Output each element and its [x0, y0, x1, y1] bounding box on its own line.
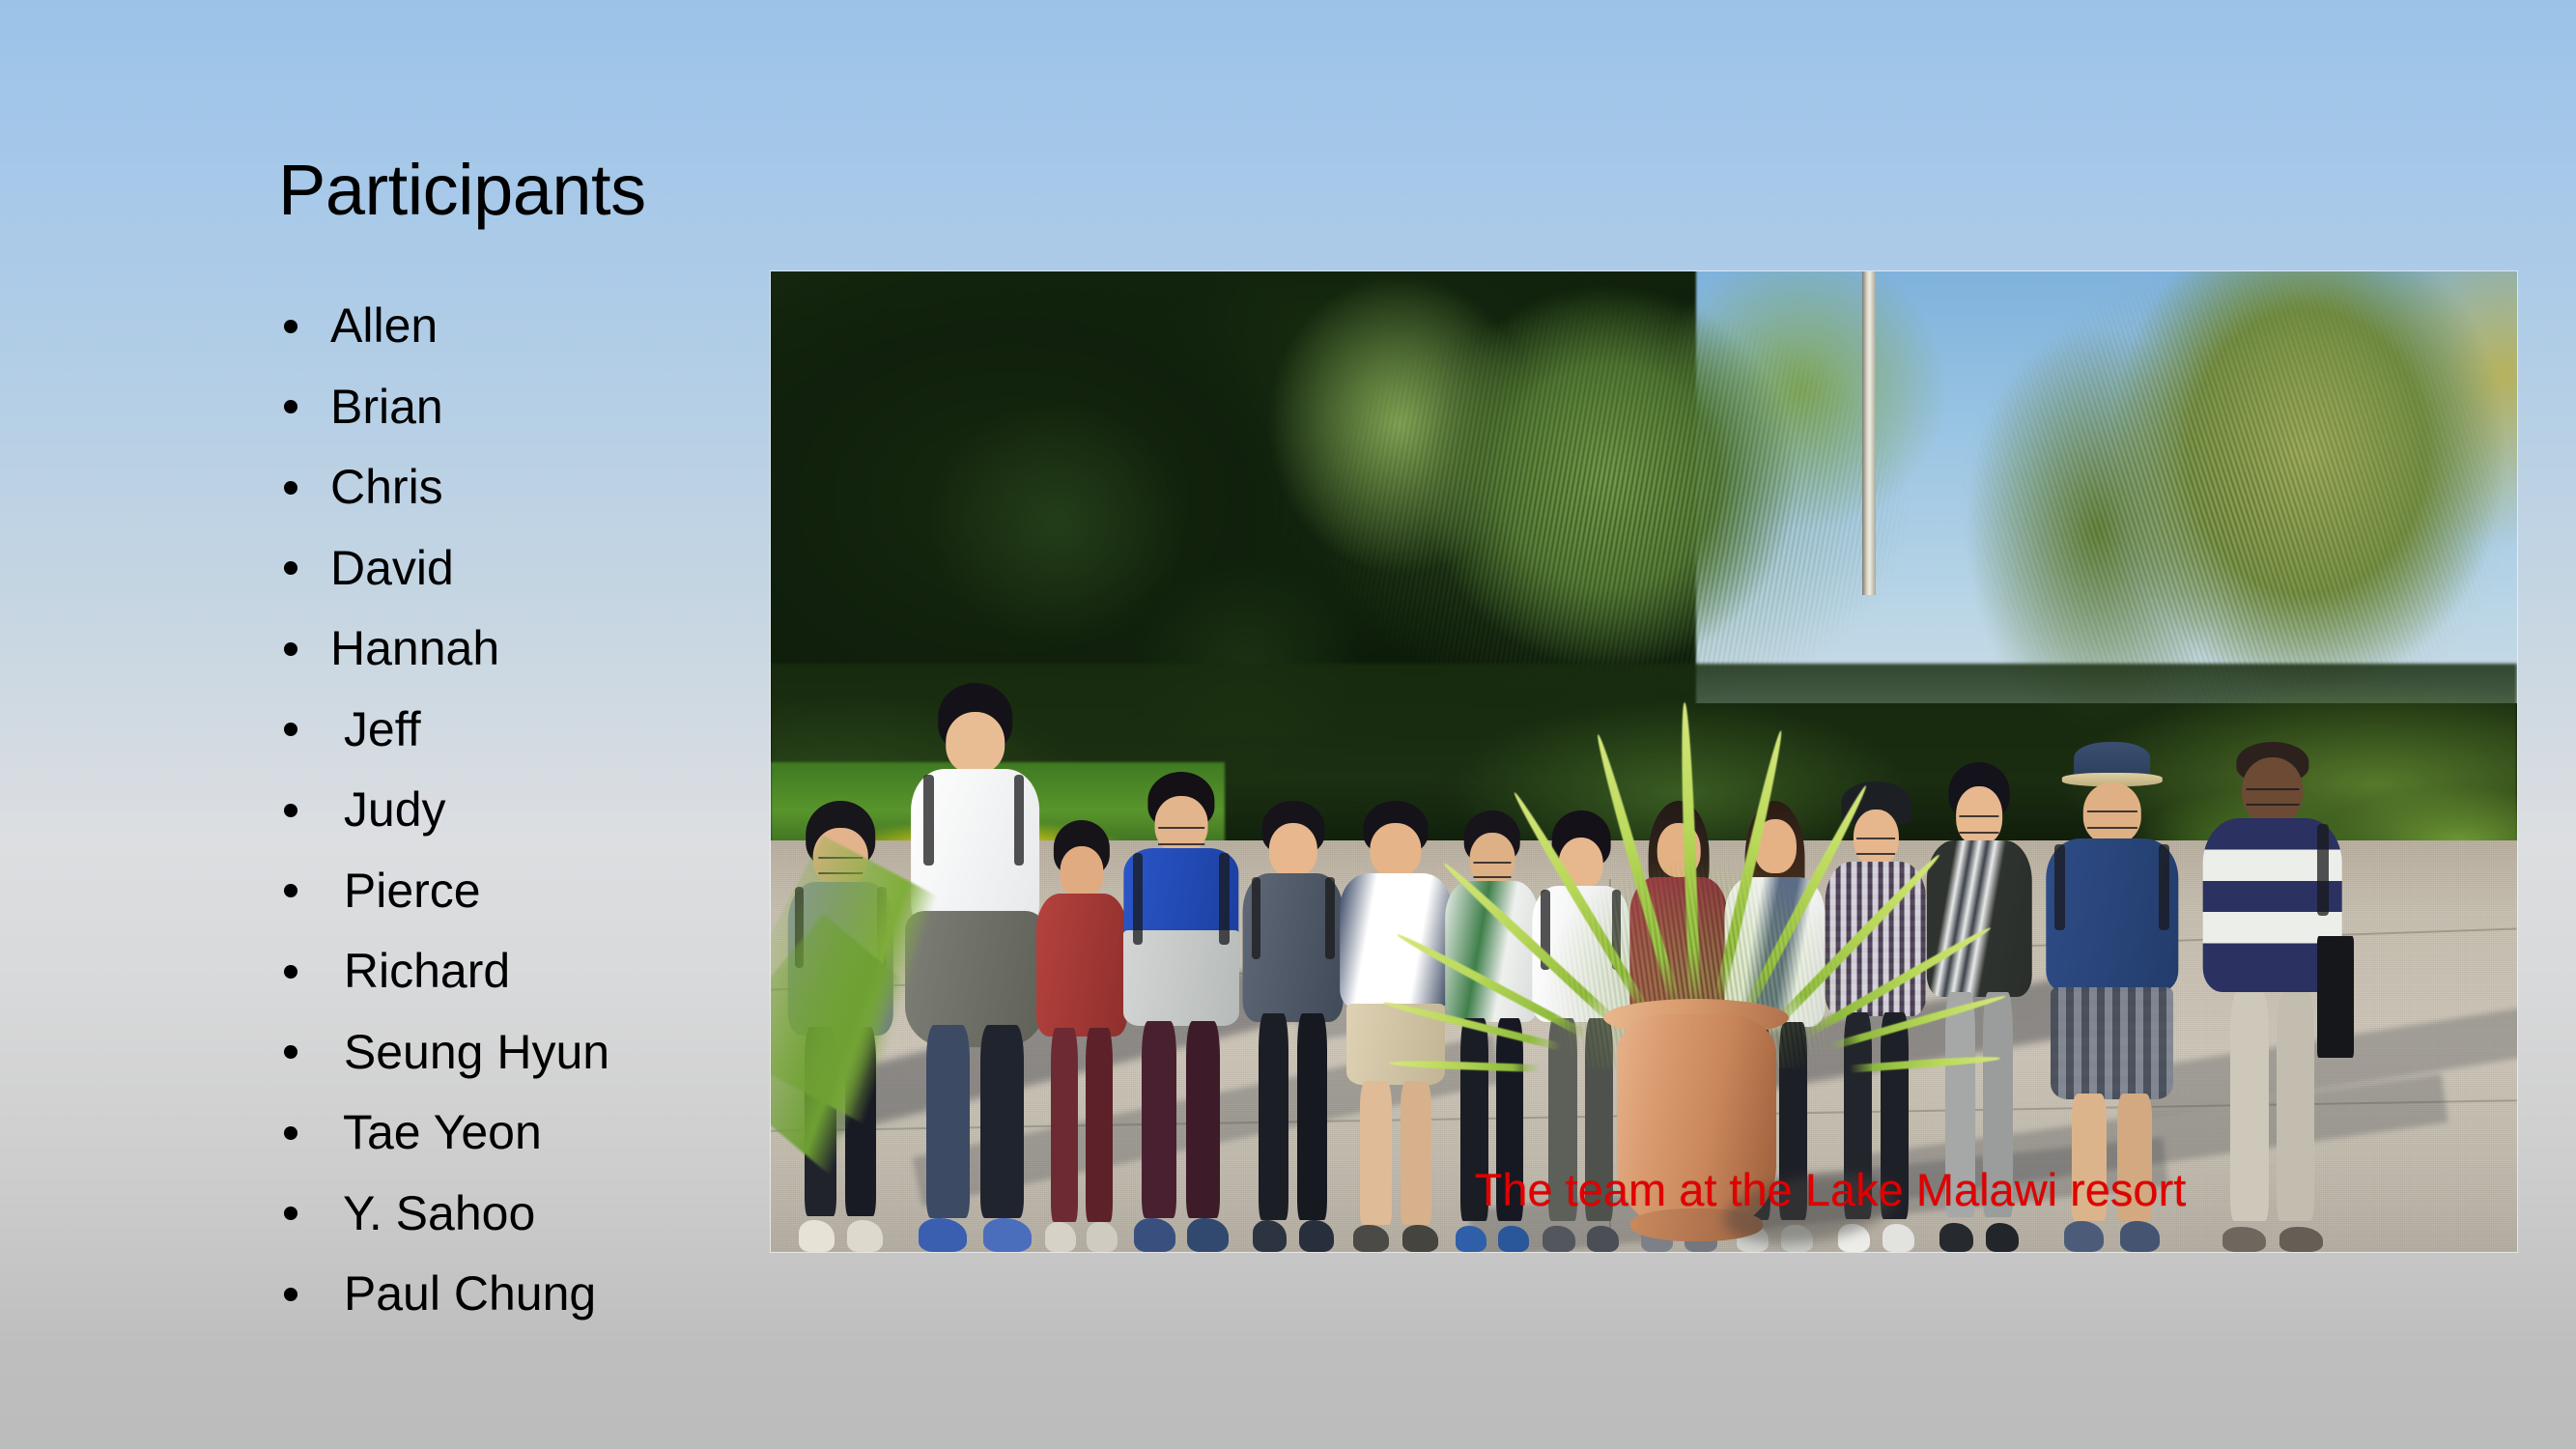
participant-name: Y. Sahoo: [330, 1186, 535, 1240]
participant-item: Allen: [276, 286, 730, 367]
bullet-dot-icon: [284, 965, 297, 979]
participants-list: AllenBrianChrisDavidHannah Jeff Judy Pie…: [276, 286, 730, 1335]
photo-caption: The team at the Lake Malawi resort: [1475, 1167, 2187, 1212]
bullet-dot-icon: [284, 1045, 297, 1059]
participant-name: Richard: [330, 944, 510, 998]
photo-person: [1340, 801, 1452, 1252]
bullet-dot-icon: [284, 1288, 297, 1301]
photo-person: [2203, 742, 2343, 1252]
bullet-dot-icon: [284, 1207, 297, 1220]
photo-light-pole: [1862, 271, 1876, 595]
participant-item: Seung Hyun: [276, 1012, 730, 1094]
participant-name: Paul Chung: [330, 1266, 596, 1321]
participant-name: David: [330, 541, 454, 595]
participant-item: Tae Yeon: [276, 1093, 730, 1174]
bullet-dot-icon: [284, 884, 297, 897]
participant-name: Hannah: [330, 621, 499, 675]
photo-person: [1242, 801, 1344, 1252]
bullet-dot-icon: [284, 320, 297, 333]
participant-item: Judy: [276, 770, 730, 851]
participant-name: Chris: [330, 460, 443, 514]
participant-name: Jeff: [330, 702, 421, 756]
team-photo: The team at the Lake Malawi resort: [771, 271, 2517, 1252]
participant-name: Allen: [330, 298, 438, 353]
slide-canvas: Participants AllenBrianChrisDavidHannah …: [0, 0, 2576, 1449]
bullet-dot-icon: [284, 642, 297, 656]
participant-item: Hannah: [276, 609, 730, 690]
participant-name: Judy: [330, 782, 446, 837]
participant-name: Tae Yeon: [330, 1105, 542, 1159]
bullet-dot-icon: [284, 561, 297, 575]
bullet-dot-icon: [284, 1126, 297, 1140]
bullet-dot-icon: [284, 400, 297, 413]
page-title: Participants: [278, 155, 646, 226]
participant-name: Brian: [330, 380, 443, 434]
participant-item: Paul Chung: [276, 1254, 730, 1335]
photo-person: [1123, 772, 1238, 1252]
participant-item: Chris: [276, 447, 730, 528]
participant-item: Y. Sahoo: [276, 1174, 730, 1255]
bullet-dot-icon: [284, 723, 297, 736]
participant-item: David: [276, 528, 730, 610]
participant-name: Seung Hyun: [330, 1025, 609, 1079]
participant-item: Brian: [276, 367, 730, 448]
participant-name: Pierce: [330, 864, 481, 918]
participant-item: Richard: [276, 931, 730, 1012]
bullet-dot-icon: [284, 804, 297, 817]
photo-person: [1036, 820, 1127, 1252]
bullet-dot-icon: [284, 481, 297, 495]
participant-item: Jeff: [276, 690, 730, 771]
participant-item: Pierce: [276, 851, 730, 932]
